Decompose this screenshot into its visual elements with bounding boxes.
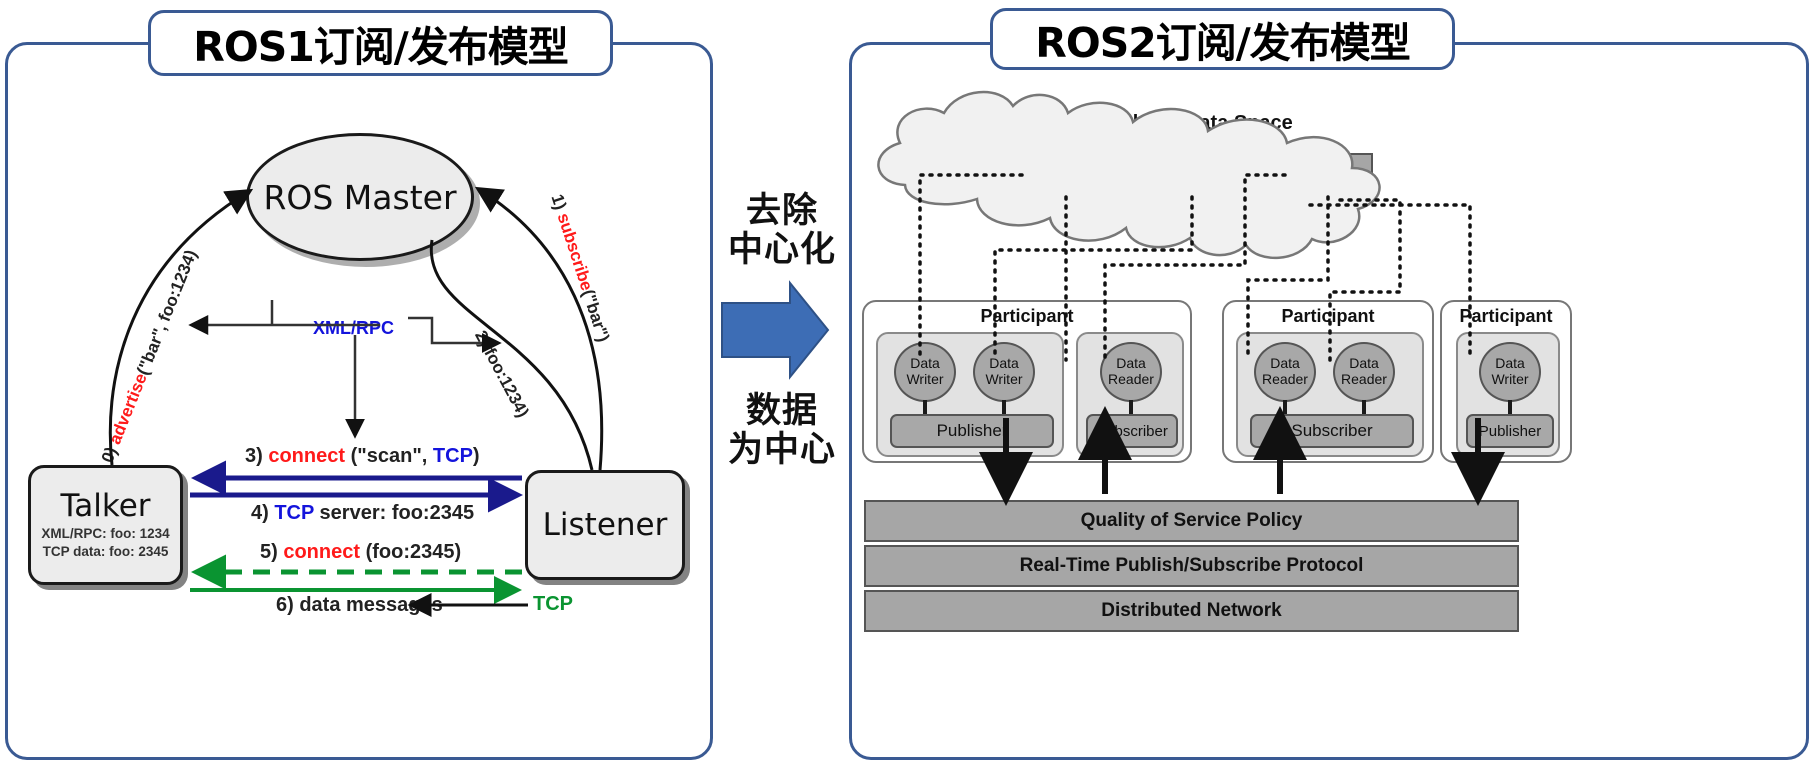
data-reader-endpoint: Data Reader [1254, 342, 1316, 402]
talker-title: Talker [60, 490, 150, 523]
subscriber-box: Subscriber [1250, 414, 1414, 448]
participant-2: Participant Data Reader Data Reader Subs… [1222, 300, 1434, 463]
data-writer-endpoint: Data Writer [973, 342, 1035, 402]
endpoint-line2: Reader [1108, 372, 1154, 388]
endpoint-stem [1362, 400, 1366, 415]
step-5-number: 5) [260, 541, 283, 563]
publisher-box: Publisher [1466, 414, 1554, 448]
data-reader-endpoint: Data Reader [1333, 342, 1395, 402]
topic-box: Topic [1148, 153, 1236, 197]
participant-1-title: Participant [864, 306, 1190, 327]
endpoint-line1: Data [1116, 356, 1146, 372]
step-3-keyword: connect [268, 445, 345, 467]
publisher-group-3: Data Writer Publisher [1456, 332, 1560, 457]
step-3-label: 3) connect ("scan", TCP) [245, 445, 480, 468]
participant-2-title: Participant [1224, 306, 1432, 327]
endpoint-line2: Writer [1491, 372, 1528, 388]
qos-bar: Quality of Service Policy [864, 500, 1519, 542]
tcp-end-label: TCP [533, 593, 573, 616]
participant-1: Participant Data Writer Data Writer Publ… [862, 300, 1192, 463]
endpoint-stem [1002, 400, 1006, 415]
ros-master-label: ROS Master [263, 178, 456, 217]
diagram-canvas: ROS1订阅/发布模型 ROS Master Talker XML/RPC: f… [0, 0, 1815, 766]
rtps-bar: Real-Time Publish/Subscribe Protocol [864, 545, 1519, 587]
global-data-space-label: Global Data Space [1035, 112, 1375, 135]
data-writer-endpoint: Data Writer [1479, 342, 1541, 402]
step-3-tail-keyword: TCP [433, 445, 473, 467]
talker-node: Talker XML/RPC: foo: 1234 TCP data: foo:… [28, 465, 183, 585]
endpoint-stem [1283, 400, 1287, 415]
decentralize-line2: 中心化 [718, 231, 846, 270]
publisher-box: Publisher [890, 414, 1054, 448]
data-centric-line1: 数据 [718, 392, 846, 431]
step-4-rest: server: foo:2345 [314, 502, 474, 524]
data-centric-line2: 为中心 [718, 431, 846, 470]
endpoint-stem [1129, 400, 1133, 415]
participant-3: Participant Data Writer Publisher [1440, 300, 1572, 463]
step-5-rest: (foo:2345) [360, 541, 461, 563]
data-reader-endpoint: Data Reader [1100, 342, 1162, 402]
data-centric-label: 数据 为中心 [718, 392, 846, 470]
endpoint-line1: Data [989, 356, 1019, 372]
step-3-number: 3) [245, 445, 268, 467]
step-3-close: ) [473, 445, 480, 467]
distributed-network-bar: Distributed Network [864, 590, 1519, 632]
endpoint-stem [1508, 400, 1512, 415]
publisher-group-1: Data Writer Data Writer Publisher [876, 332, 1064, 457]
endpoint-line2: Reader [1262, 372, 1308, 388]
ros2-panel-title: ROS2订阅/发布模型 [990, 8, 1455, 70]
endpoint-stem [923, 400, 927, 415]
step-3-rest: ("scan", [345, 445, 433, 467]
listener-node: Listener [525, 470, 685, 580]
talker-tcp-line: TCP data: foo: 2345 [43, 543, 169, 561]
subscriber-group-2: Data Reader Data Reader Subscriber [1236, 332, 1424, 457]
talker-xmlrpc-line: XML/RPC: foo: 1234 [41, 525, 169, 543]
xmlrpc-label: XML/RPC [313, 318, 394, 339]
decentralize-line1: 去除 [718, 192, 846, 231]
decentralize-label: 去除 中心化 [718, 192, 846, 270]
ros1-panel-title: ROS1订阅/发布模型 [148, 10, 613, 76]
subscriber-group-1: Data Reader Subscriber [1076, 332, 1184, 457]
topic-box: Topic [1285, 153, 1373, 197]
endpoint-line2: Reader [1341, 372, 1387, 388]
step-6-label: 6) data messages [276, 594, 443, 617]
endpoint-line2: Writer [985, 372, 1022, 388]
listener-title: Listener [543, 509, 668, 542]
ros-master-node: ROS Master [246, 133, 474, 261]
step-4-keyword: TCP [274, 502, 314, 524]
step-4-number: 4) [251, 502, 274, 524]
data-writer-endpoint: Data Writer [894, 342, 956, 402]
topic-box: Topic [1022, 153, 1110, 197]
step-5-keyword: connect [283, 541, 360, 563]
endpoint-line1: Data [1349, 356, 1379, 372]
endpoint-line1: Data [1495, 356, 1525, 372]
endpoint-line1: Data [1270, 356, 1300, 372]
subscriber-box: Subscriber [1086, 414, 1178, 448]
step-4-label: 4) TCP server: foo:2345 [251, 502, 474, 525]
participant-3-title: Participant [1442, 306, 1570, 327]
endpoint-line2: Writer [906, 372, 943, 388]
transition-arrow [722, 283, 828, 377]
endpoint-line1: Data [910, 356, 940, 372]
step-5-label: 5) connect (foo:2345) [260, 541, 461, 564]
